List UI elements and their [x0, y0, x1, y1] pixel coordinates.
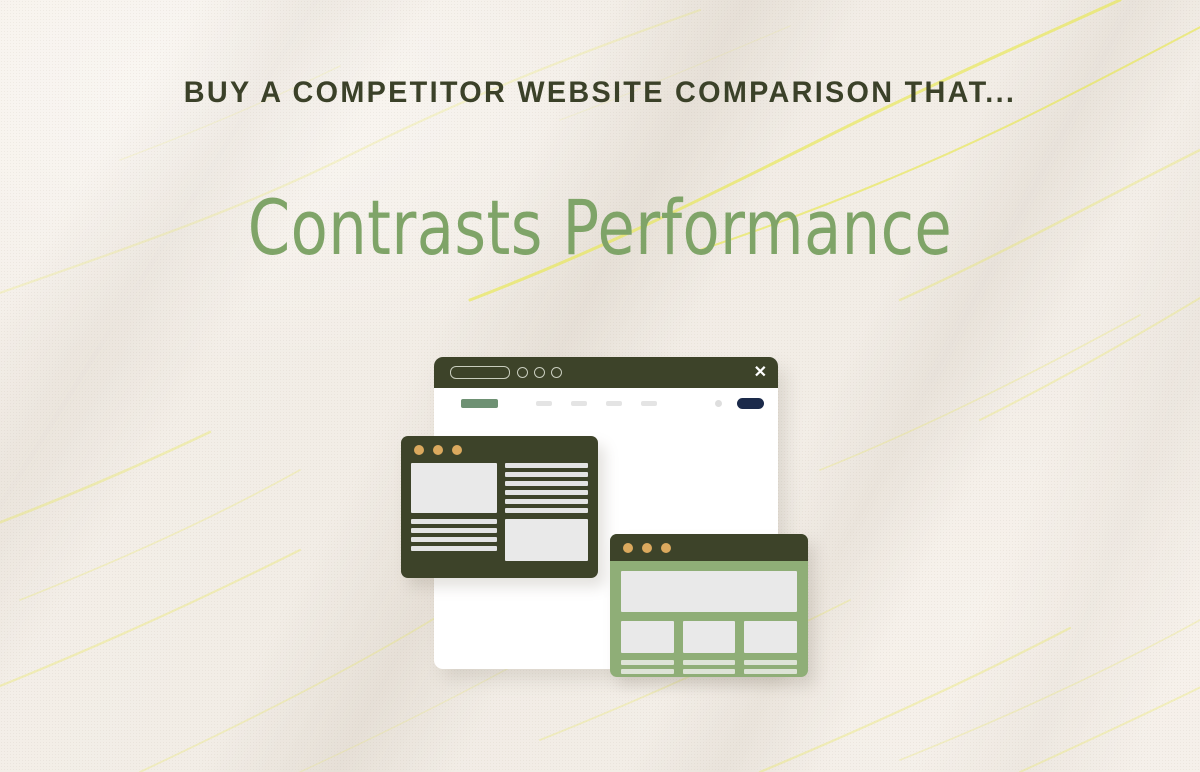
- text-line: [505, 472, 588, 477]
- card-text-line: [683, 660, 736, 665]
- card-text-line: [621, 660, 674, 665]
- dark-right-column: [505, 463, 588, 561]
- text-line: [411, 528, 497, 533]
- close-icon[interactable]: ✕: [754, 365, 767, 381]
- poster-canvas: BUY A COMPETITOR WEBSITE COMPARISON THAT…: [0, 0, 1200, 772]
- text-line: [505, 481, 588, 486]
- page-headline: BUY A COMPETITOR WEBSITE COMPARISON THAT…: [24, 76, 1176, 110]
- browser-title-bar: ✕: [434, 357, 778, 388]
- image-block: [411, 463, 497, 513]
- text-line: [411, 546, 497, 551]
- address-bar-pill-icon[interactable]: [450, 366, 510, 379]
- card-image-block: [621, 621, 674, 653]
- site-logo-icon[interactable]: [461, 399, 498, 408]
- page-subtitle: Contrasts Performance: [120, 183, 1080, 272]
- text-line-group: [505, 463, 588, 513]
- window-dot-icon[interactable]: [414, 445, 424, 455]
- green-window-content: [610, 561, 808, 677]
- green-window-title-bar: [610, 534, 808, 561]
- nav-link-item[interactable]: [571, 401, 587, 406]
- nav-link-item[interactable]: [536, 401, 552, 406]
- window-control-circle-icon[interactable]: [517, 367, 528, 378]
- hero-banner-block: [621, 571, 797, 612]
- window-dot-icon[interactable]: [642, 543, 652, 553]
- dark-left-column: [411, 463, 497, 561]
- text-line: [411, 537, 497, 542]
- card-column: [621, 621, 674, 674]
- nav-link-item[interactable]: [641, 401, 657, 406]
- card-column: [683, 621, 736, 674]
- card-text-line: [683, 669, 736, 674]
- cta-button[interactable]: [737, 398, 764, 409]
- window-dot-icon[interactable]: [433, 445, 443, 455]
- window-control-circle-icon[interactable]: [551, 367, 562, 378]
- text-line: [505, 490, 588, 495]
- window-control-group: [517, 367, 562, 378]
- nav-link-item[interactable]: [606, 401, 622, 406]
- text-line: [505, 463, 588, 468]
- dark-window-content: [401, 455, 598, 571]
- card-text-line: [744, 660, 797, 665]
- text-line-group: [411, 519, 497, 551]
- window-dot-icon[interactable]: [452, 445, 462, 455]
- card-text-line: [744, 669, 797, 674]
- card-image-block: [744, 621, 797, 653]
- nav-link-group: [536, 401, 657, 406]
- card-column: [744, 621, 797, 674]
- card-text-line: [621, 669, 674, 674]
- text-line: [505, 499, 588, 504]
- window-control-circle-icon[interactable]: [534, 367, 545, 378]
- browser-window-green: [610, 534, 808, 677]
- text-line: [505, 508, 588, 513]
- image-block: [505, 519, 588, 561]
- window-dot-group-dark: [401, 436, 598, 455]
- site-navigation-bar: [434, 388, 778, 418]
- text-line: [411, 519, 497, 524]
- window-dot-icon[interactable]: [661, 543, 671, 553]
- browser-window-dark: [401, 436, 598, 578]
- card-image-block: [683, 621, 736, 653]
- account-indicator-icon[interactable]: [715, 400, 722, 407]
- card-column-group: [621, 621, 797, 674]
- window-dot-icon[interactable]: [623, 543, 633, 553]
